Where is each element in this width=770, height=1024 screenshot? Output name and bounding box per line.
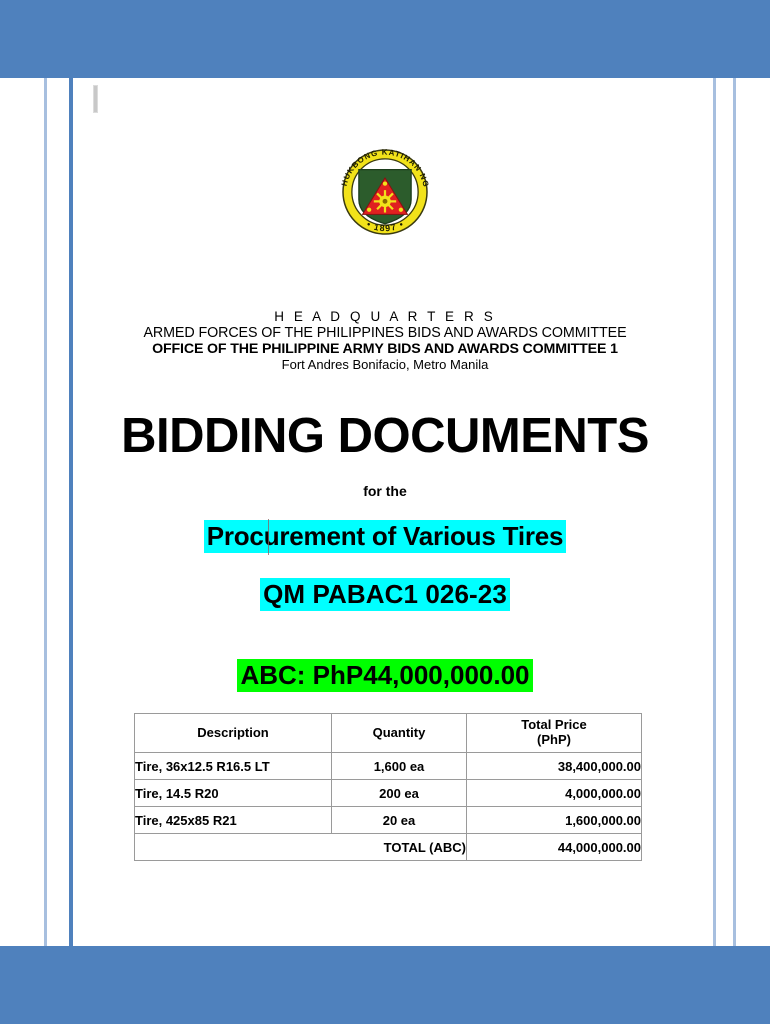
reference-number-line: QM PABAC1 026-23	[0, 578, 770, 611]
abc-amount-line: ABC: PhP44,000,000.00	[0, 659, 770, 692]
table-row: Tire, 14.5 R20 200 ea 4,000,000.00	[135, 780, 642, 807]
philippine-army-seal-icon: HUKBONG KATIHAN NG PILIPINAS • 1897 •	[329, 136, 441, 248]
table-row: Tire, 36x12.5 R16.5 LT 1,600 ea 38,400,0…	[135, 753, 642, 780]
cell-total-label: TOTAL (ABC)	[135, 834, 467, 861]
cell-description: Tire, 425x85 R21	[135, 807, 332, 834]
header-address: Fort Andres Bonifacio, Metro Manila	[0, 357, 770, 372]
bid-items-table: Description Quantity Total Price (PhP) T…	[134, 713, 642, 861]
header-office-pabac1: OFFICE OF THE PHILIPPINE ARMY BIDS AND A…	[0, 341, 770, 357]
project-title-line: Procurement of Various Tires	[0, 520, 770, 553]
cell-quantity: 1,600 ea	[332, 753, 467, 780]
cell-total-price: 38,400,000.00	[467, 753, 642, 780]
cell-total-price: 1,600,000.00	[467, 807, 642, 834]
cell-total-amount: 44,000,000.00	[467, 834, 642, 861]
reference-number-highlighted: QM PABAC1 026-23	[260, 578, 510, 611]
project-title-highlighted: Procurement of Various Tires	[204, 520, 567, 553]
column-header-quantity: Quantity	[332, 714, 467, 753]
table-total-row: TOTAL (ABC) 44,000,000.00	[135, 834, 642, 861]
header-afp-bac: ARMED FORCES OF THE PHILIPPINES BIDS AND…	[0, 325, 770, 341]
abc-amount-highlighted: ABC: PhP44,000,000.00	[237, 659, 532, 692]
cell-description: Tire, 14.5 R20	[135, 780, 332, 807]
cell-total-price: 4,000,000.00	[467, 780, 642, 807]
total-price-line1: Total Price	[467, 718, 641, 733]
for-the-label: for the	[0, 483, 770, 499]
total-price-line2: (PhP)	[467, 733, 641, 748]
table-row: Tire, 425x85 R21 20 ea 1,600,000.00	[135, 807, 642, 834]
document-title: BIDDING DOCUMENTS	[0, 412, 770, 461]
cell-quantity: 20 ea	[332, 807, 467, 834]
header-headquarters: H E A D Q U A R T E R S	[0, 309, 770, 324]
column-header-total-price: Total Price (PhP)	[467, 714, 642, 753]
document-page: HUKBONG KATIHAN NG PILIPINAS • 1897 • H …	[0, 0, 770, 1024]
table-header-row: Description Quantity Total Price (PhP)	[135, 714, 642, 753]
seal-container: HUKBONG KATIHAN NG PILIPINAS • 1897 •	[0, 136, 770, 253]
column-boundary-artifact	[268, 519, 269, 555]
cell-description: Tire, 36x12.5 R16.5 LT	[135, 753, 332, 780]
bid-items-table-container: Description Quantity Total Price (PhP) T…	[134, 713, 641, 861]
cell-quantity: 200 ea	[332, 780, 467, 807]
column-header-description: Description	[135, 714, 332, 753]
